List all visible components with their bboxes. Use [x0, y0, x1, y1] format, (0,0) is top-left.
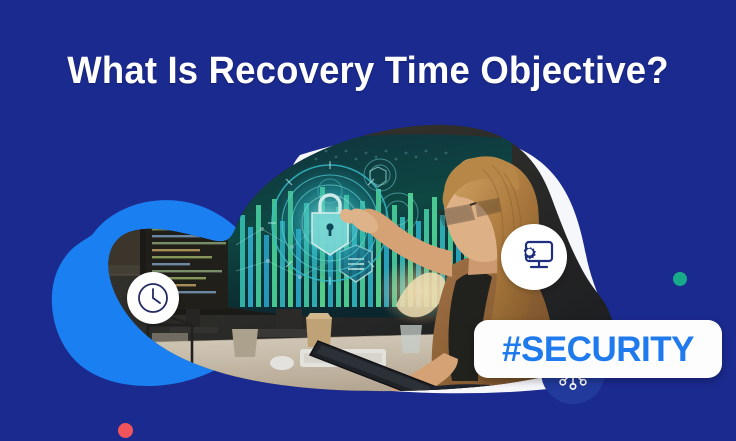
banner: What Is Recovery Time Objective? — [0, 0, 736, 441]
coral-dot — [118, 423, 133, 438]
page-title: What Is Recovery Time Objective? — [15, 50, 722, 93]
teal-dot — [673, 272, 687, 286]
security-badge-label: #SECURITY — [502, 332, 694, 367]
monitor-gear-icon — [501, 224, 567, 290]
clock-icon — [127, 272, 179, 324]
security-badge[interactable]: #SECURITY — [474, 320, 722, 378]
